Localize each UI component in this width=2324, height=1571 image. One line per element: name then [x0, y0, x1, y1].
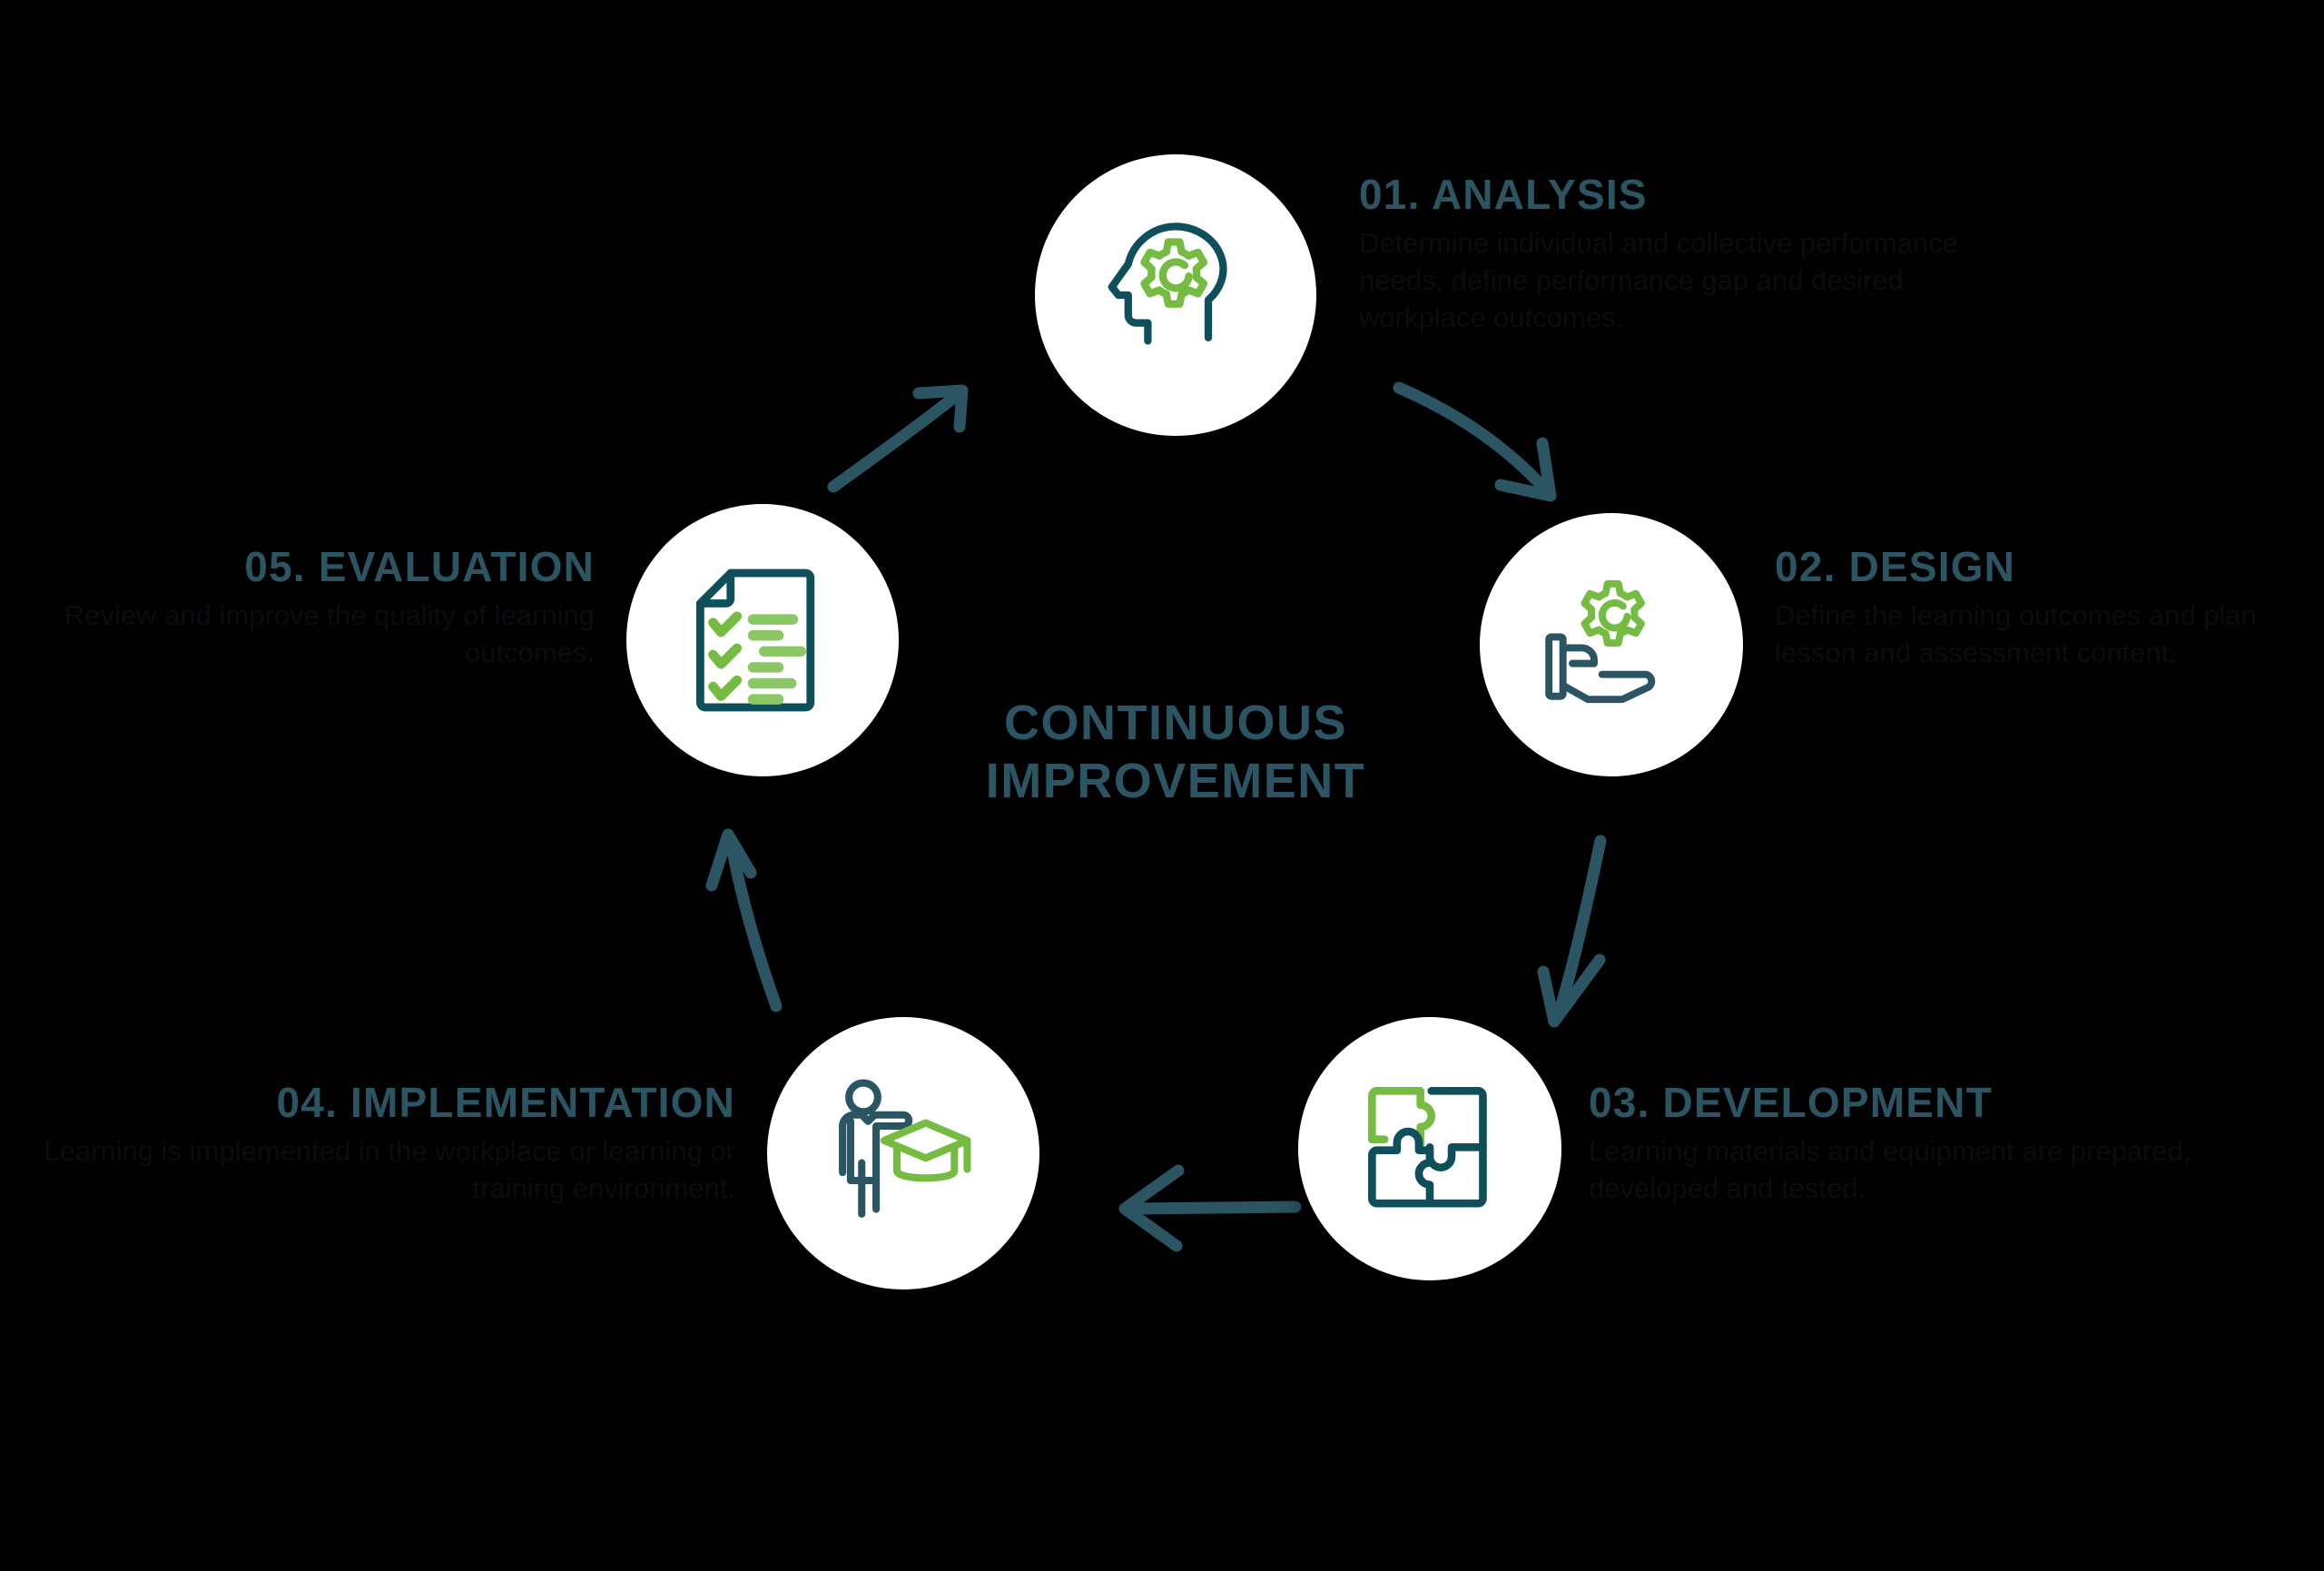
step-heading-development: 03. DEVELOPMENT	[1589, 1081, 2315, 1124]
step-body-analysis: Determine individual and collective perf…	[1359, 225, 1994, 337]
label-evaluation: 05. EVALUATION Review and improve the qu…	[54, 545, 595, 672]
arrow-evaluation-to-analysis	[833, 390, 962, 487]
checklist-document-icon	[683, 560, 842, 720]
node-implementation[interactable]	[767, 1017, 1039, 1289]
step-heading-evaluation: 05. EVALUATION	[54, 545, 595, 588]
continuous-improvement-diagram: 01. ANALYSIS Determine individual and co…	[0, 0, 2324, 1571]
step-heading-implementation: 04. IMPLEMENTATION	[9, 1081, 735, 1124]
node-evaluation[interactable]	[626, 504, 899, 776]
label-analysis: 01. ANALYSIS Determine individual and co…	[1359, 173, 1994, 337]
node-analysis[interactable]	[1035, 154, 1316, 436]
label-implementation: 04. IMPLEMENTATION Learning is implement…	[9, 1081, 735, 1208]
step-heading-analysis: 01. ANALYSIS	[1359, 173, 1994, 216]
puzzle-icon	[1352, 1071, 1508, 1227]
label-design: 02. DESIGN Define the learning outcomes …	[1775, 545, 2319, 672]
step-body-evaluation: Review and improve the quality of learni…	[54, 598, 595, 672]
head-gear-icon	[1094, 213, 1257, 377]
node-development[interactable]	[1298, 1017, 1561, 1280]
step-body-design: Define the learning outcomes and plan le…	[1775, 598, 2319, 672]
arrow-development-to-implementation	[1125, 1171, 1295, 1246]
label-development: 03. DEVELOPMENT Learning materials and e…	[1589, 1081, 2315, 1208]
teacher-graduation-icon	[823, 1073, 983, 1233]
hand-gear-icon	[1533, 567, 1689, 723]
arrow-design-to-development	[1543, 841, 1600, 1022]
center-title-line-2: IMPROVEMENT	[917, 753, 1434, 811]
arrow-implementation-to-evaluation	[712, 835, 776, 1006]
node-design[interactable]	[1480, 513, 1743, 776]
step-body-development: Learning materials and equipment are pre…	[1589, 1133, 2315, 1208]
center-title-line-1: CONTINUOUS	[917, 695, 1434, 753]
step-heading-design: 02. DESIGN	[1775, 545, 2319, 588]
arrow-analysis-to-design	[1399, 388, 1551, 496]
step-body-implementation: Learning is implemented in the workplace…	[9, 1133, 735, 1208]
center-title: CONTINUOUS IMPROVEMENT	[917, 695, 1434, 810]
